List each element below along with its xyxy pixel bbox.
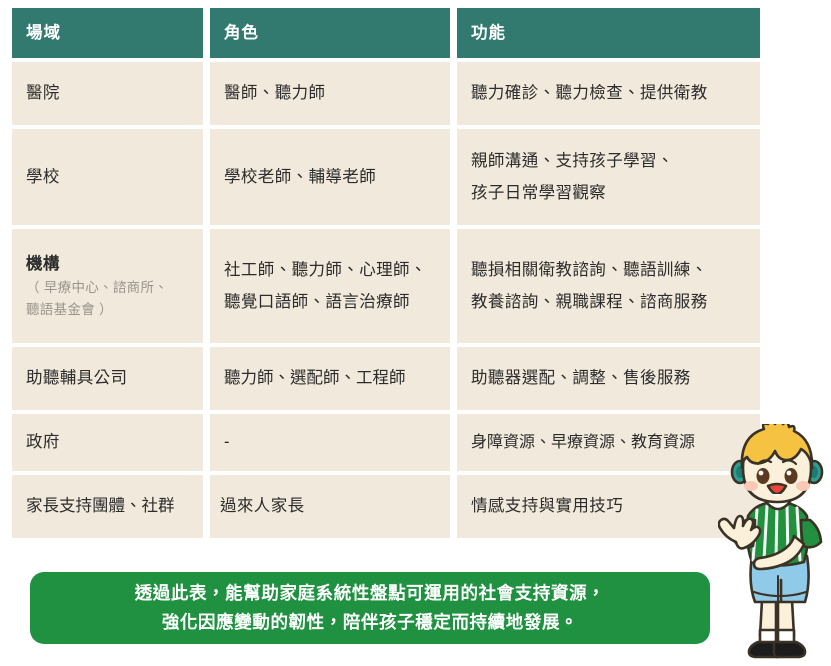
cell-venue-note-line: 聽語基金會 ） [26, 299, 189, 321]
column-header-function: 功能 [457, 8, 760, 58]
callout-line-2: 強化因應變動的韌性，陪伴孩子穩定而持續地發展。 [162, 608, 578, 637]
table-row: 家長支持團體、社群 過來人家長 情感支持與實用技巧 [12, 475, 760, 538]
cell-function-line: 教養諮詢、親職課程、諮商服務 [471, 286, 746, 318]
column-header-role: 角色 [210, 8, 450, 58]
cell-function: 助聽器選配、調整、售後服務 [457, 347, 760, 410]
boy-with-hearing-aids-illustration [718, 424, 831, 662]
table-row: 機構 （ 早療中心、諮商所、 聽語基金會 ） 社工師、聽力師、心理師、 聽覺口語… [12, 229, 760, 343]
cell-role: 過來人家長 [210, 475, 450, 538]
support-resources-table: 場域 角色 功能 醫院 醫師、聽力師 聽力確診、聽力檢查、提供衛教 學校 學校老… [12, 8, 760, 538]
cell-function: 親師溝通、支持孩子學習、 孩子日常學習觀察 [457, 129, 760, 225]
cell-role: 學校老師、輔導老師 [210, 129, 450, 225]
cell-venue: 機構 （ 早療中心、諮商所、 聽語基金會 ） [12, 229, 203, 343]
cell-function-line: 情感支持與實用技巧 [471, 490, 746, 522]
table-row: 政府 - 身障資源、早療資源、教育資源 [12, 414, 760, 471]
table-row: 醫院 醫師、聽力師 聽力確診、聽力檢查、提供衛教 [12, 62, 760, 125]
table-row: 助聽輔具公司 聽力師、選配師、工程師 助聽器選配、調整、售後服務 [12, 347, 760, 410]
cell-function: 情感支持與實用技巧 [457, 475, 760, 538]
cell-function-line: 助聽器選配、調整、售後服務 [471, 362, 746, 394]
summary-callout: 透過此表，能幫助家庭系統性盤點可運用的社會支持資源， 強化因應變動的韌性，陪伴孩… [30, 572, 710, 644]
cell-role: 社工師、聽力師、心理師、 聽覺口語師、語言治療師 [210, 229, 450, 343]
cell-venue-title: 機構 [26, 252, 189, 278]
cell-function: 聽力確診、聽力檢查、提供衛教 [457, 62, 760, 125]
cell-role: - [210, 414, 450, 471]
table-row: 學校 學校老師、輔導老師 親師溝通、支持孩子學習、 孩子日常學習觀察 [12, 129, 760, 225]
cell-venue: 醫院 [12, 62, 203, 125]
cell-function-line: 親師溝通、支持孩子學習、 [471, 145, 746, 177]
cell-role: 醫師、聽力師 [210, 62, 450, 125]
cell-venue: 政府 [12, 414, 203, 471]
table-header-row: 場域 角色 功能 [12, 8, 760, 58]
cell-function-line: 聽力確診、聽力檢查、提供衛教 [471, 77, 746, 109]
cell-role-line: 社工師、聽力師、心理師、 [224, 254, 436, 286]
cell-function-line: 孩子日常學習觀察 [471, 177, 746, 209]
cell-function-line: 身障資源、早療資源、教育資源 [471, 427, 746, 458]
cell-role: 聽力師、選配師、工程師 [210, 347, 450, 410]
cell-venue-note-line: （ 早療中心、諮商所、 [26, 277, 189, 299]
callout-line-1: 透過此表，能幫助家庭系統性盤點可運用的社會支持資源， [135, 579, 606, 608]
page-root: 場域 角色 功能 醫院 醫師、聽力師 聽力確診、聽力檢查、提供衛教 學校 學校老… [0, 0, 831, 666]
cell-function: 聽損相關衛教諮詢、聽語訓練、 教養諮詢、親職課程、諮商服務 [457, 229, 760, 343]
cell-venue: 學校 [12, 129, 203, 225]
cell-function-line: 聽損相關衛教諮詢、聽語訓練、 [471, 254, 746, 286]
cell-venue: 家長支持團體、社群 [12, 475, 203, 538]
cell-function: 身障資源、早療資源、教育資源 [457, 414, 760, 471]
cell-role-line: 聽覺口語師、語言治療師 [224, 286, 436, 318]
cell-venue: 助聽輔具公司 [12, 347, 203, 410]
column-header-venue: 場域 [12, 8, 203, 58]
